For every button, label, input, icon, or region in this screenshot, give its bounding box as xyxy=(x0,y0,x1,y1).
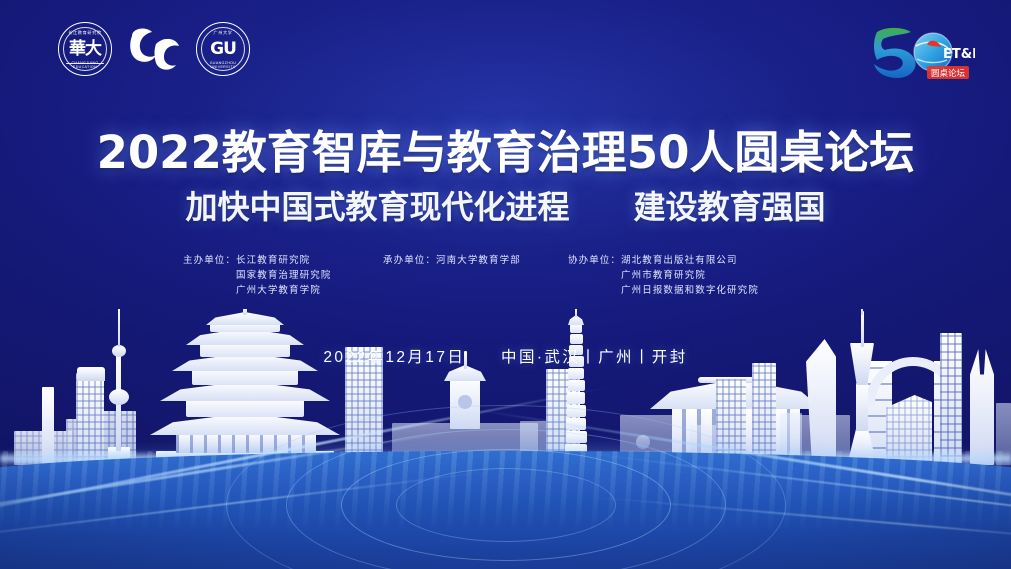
seal-arc-bottom-text: CHANGJIANG EDUCATION xyxy=(59,61,111,69)
seal-arc-top-text: 广州大学 xyxy=(197,30,249,36)
credit-label: 承办单位： xyxy=(383,253,436,268)
sub-title: 加快中国式教育现代化进程 建设教育强国 xyxy=(0,187,1011,229)
anniversary-logo: ET&EG 圆桌论坛 xyxy=(867,22,975,84)
canton-waist xyxy=(856,383,868,431)
wave-emblem-icon xyxy=(126,26,182,72)
credit-label: 协办单位： xyxy=(568,253,621,268)
credit-item: 长江教育研究院 xyxy=(236,253,331,268)
changjiang-education-institute-seal-icon: 长江教育研究院 華大 CHANGJIANG EDUCATION xyxy=(58,22,112,76)
anniversary-chinese: 圆桌论坛 xyxy=(931,68,966,79)
credit-item: 国家教育治理研究院 xyxy=(236,268,331,283)
canton-antenna-tip xyxy=(861,309,863,315)
credit-items: 长江教育研究院 国家教育治理研究院 广州大学教育学院 xyxy=(236,253,331,298)
credit-item: 广州市教育研究院 xyxy=(621,268,759,283)
tv-tower xyxy=(100,309,138,465)
credit-items: 河南大学教育学部 xyxy=(436,253,521,268)
credit-label: 主办单位： xyxy=(183,253,236,268)
guangzhou-university-seal-icon: 广州大学 GU GUANGZHOU UNIVERSITY xyxy=(196,22,250,76)
anniversary-acronym: ET&EG xyxy=(943,47,975,62)
tv-tower-sphere-lower xyxy=(109,389,129,405)
ground-data-texture xyxy=(0,451,1011,569)
credit-column-coorganizer: 协办单位： 湖北教育出版社有限公司 广州市教育研究院 广州日报数据和数字化研究院 xyxy=(568,253,828,298)
conference-banner: 长江教育研究院 華大 CHANGJIANG EDUCATION 广州大学 GU … xyxy=(0,0,1011,569)
canton-tower xyxy=(838,309,886,465)
date-location-line: 2022年12月17日 中国·武汉丨广州丨开封 xyxy=(0,345,1011,367)
credit-item: 河南大学教育学部 xyxy=(436,253,521,268)
credit-item: 湖北教育出版社有限公司 xyxy=(621,253,759,268)
seal-arc-top-text: 长江教育研究院 xyxy=(59,30,111,36)
title-block: 2022教育智库与教育治理50人圆桌论坛 加快中国式教育现代化进程 建设教育强国 xyxy=(0,126,1011,228)
institution-logos: 长江教育研究院 華大 CHANGJIANG EDUCATION 广州大学 GU … xyxy=(58,22,250,76)
tv-tower-antenna xyxy=(118,309,121,347)
credit-item: 广州日报数据和数字化研究院 xyxy=(621,283,759,298)
main-title: 2022教育智库与教育治理50人圆桌论坛 xyxy=(0,126,1011,181)
seal-core-text: GU xyxy=(210,41,236,58)
yct-finial xyxy=(243,309,247,315)
credit-item: 广州大学教育学院 xyxy=(236,283,331,298)
seal-core-text: 華大 xyxy=(69,41,101,58)
tech-ground-plane xyxy=(0,451,1011,569)
seal-arc-bottom-text: GUANGZHOU UNIVERSITY xyxy=(197,61,249,69)
pagoda-tier-11 xyxy=(570,324,582,333)
pagoda-tier-10 xyxy=(570,334,583,344)
credit-column-organizer: 承办单位： 河南大学教育学部 xyxy=(383,253,568,268)
credit-column-host: 主办单位： 长江教育研究院 国家教育治理研究院 广州大学教育学院 xyxy=(183,253,383,298)
credit-items: 湖北教育出版社有限公司 广州市教育研究院 广州日报数据和数字化研究院 xyxy=(621,253,759,298)
organizer-credits: 主办单位： 长江教育研究院 国家教育治理研究院 广州大学教育学院 承办单位： 河… xyxy=(0,253,1011,298)
canton-antenna xyxy=(861,311,864,347)
